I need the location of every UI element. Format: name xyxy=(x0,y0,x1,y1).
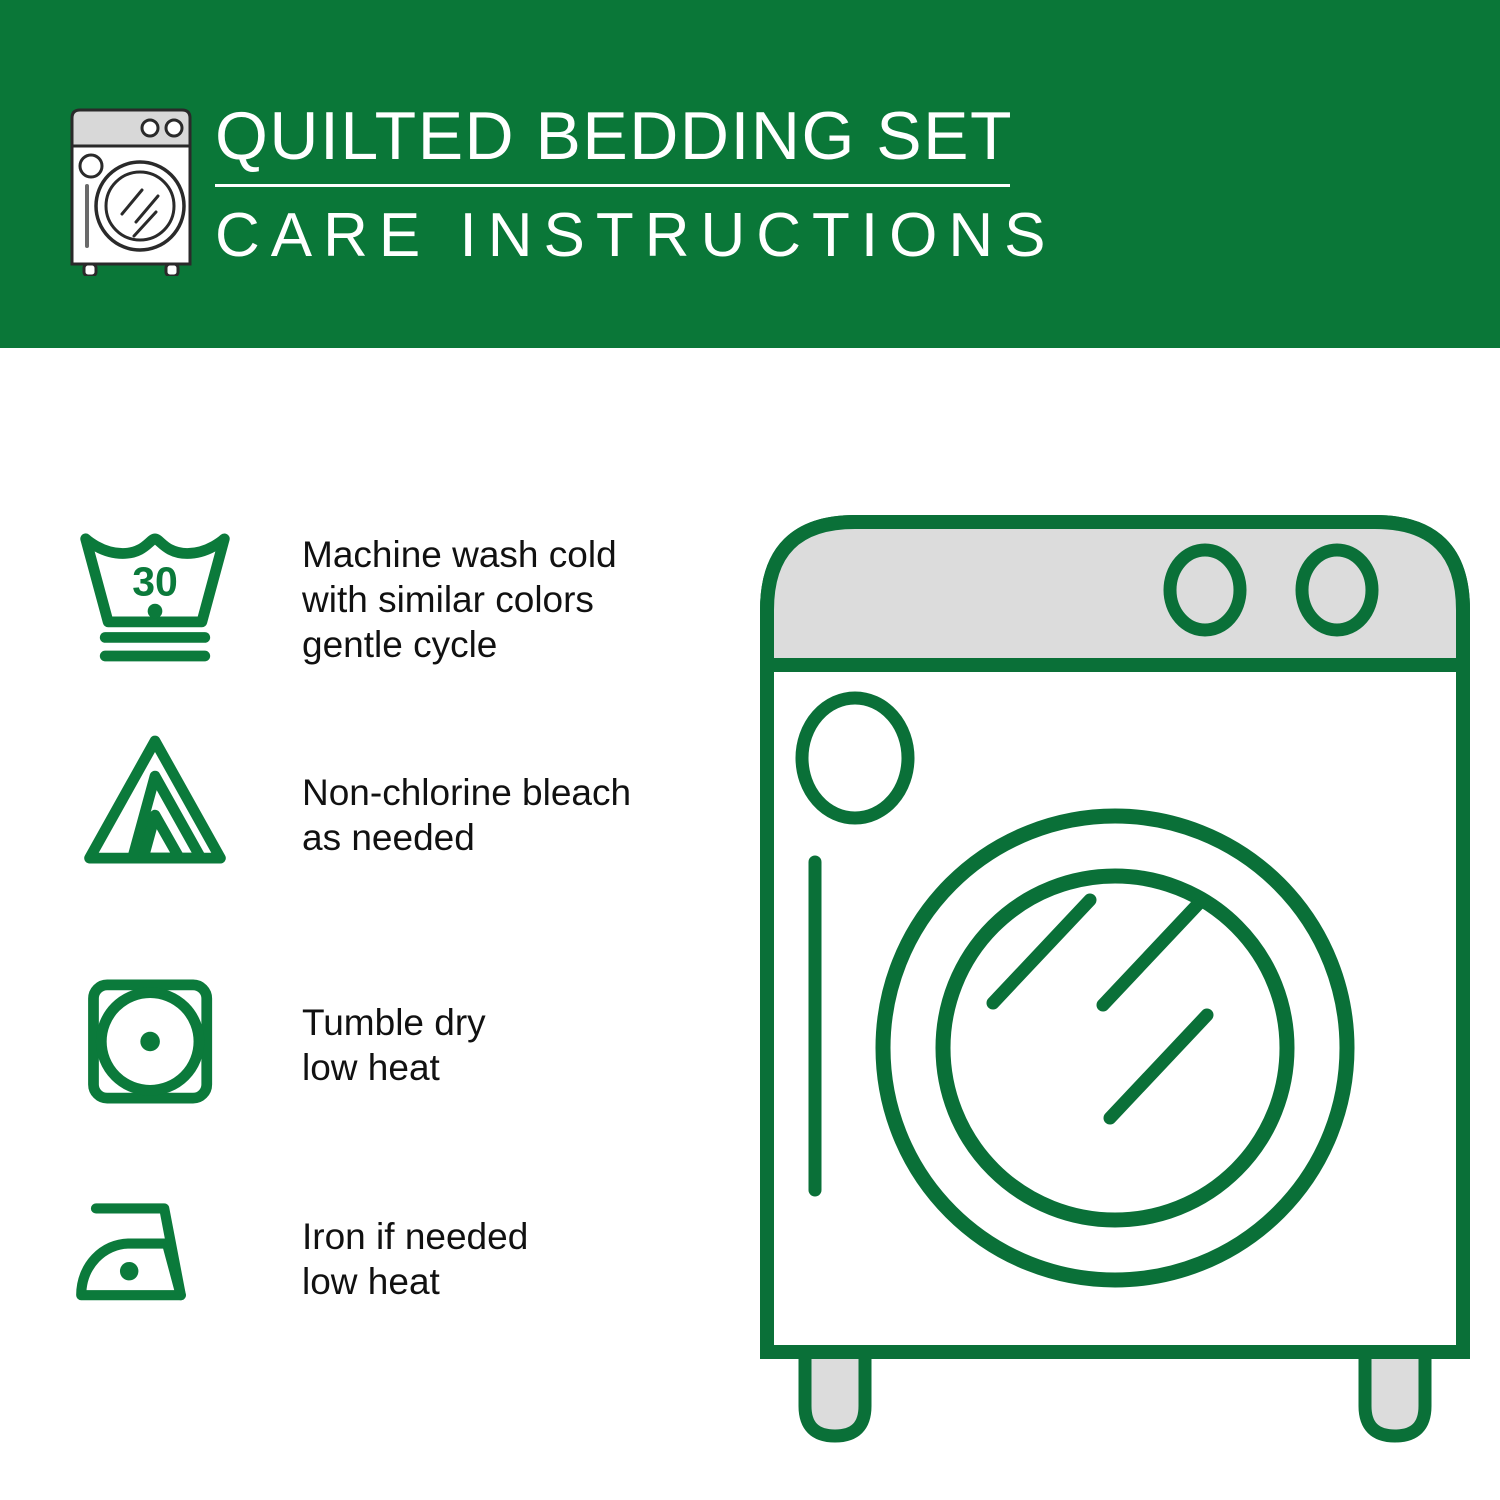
wash-tub-30-gentle-icon: 30 xyxy=(72,520,238,667)
care-instruction-text: Non-chlorine bleach as needed xyxy=(302,728,631,860)
wash-temperature-label: 30 xyxy=(132,558,178,604)
knob-left xyxy=(1170,550,1240,630)
care-instruction-text: Iron if needed low heat xyxy=(302,1192,528,1304)
page-title: QUILTED BEDDING SET xyxy=(215,98,1015,174)
title-divider xyxy=(215,184,1010,187)
header-title-block: QUILTED BEDDING SET CARE INSTRUCTIONS xyxy=(215,98,1015,271)
care-instruction-text: Tumble dry low heat xyxy=(302,968,486,1090)
care-instruction-text: Machine wash cold with similar colors ge… xyxy=(302,520,617,667)
washing-machine-icon xyxy=(62,104,212,276)
door-inner-ring xyxy=(943,876,1287,1220)
knob-right xyxy=(1302,550,1372,630)
detergent-dial xyxy=(802,698,908,818)
care-instruction-item: Tumble dry low heat xyxy=(72,968,486,1115)
leg-right xyxy=(1365,1352,1425,1436)
iron-low-heat-icon xyxy=(72,1192,238,1319)
front-load-washing-machine-illustration xyxy=(745,490,1485,1450)
care-instruction-item: 30 Machine wash cold with similar colors… xyxy=(72,520,617,667)
page-subtitle: CARE INSTRUCTIONS xyxy=(215,201,1015,271)
non-chlorine-bleach-triangle-icon xyxy=(72,728,238,875)
leg-left xyxy=(805,1352,865,1436)
header-banner: QUILTED BEDDING SET CARE INSTRUCTIONS xyxy=(0,0,1500,348)
care-instruction-item: Non-chlorine bleach as needed xyxy=(72,728,631,875)
care-instructions-page: QUILTED BEDDING SET CARE INSTRUCTIONS 30 xyxy=(0,0,1500,1500)
care-instruction-item: Iron if needed low heat xyxy=(72,1192,528,1319)
tumble-dry-low-icon xyxy=(72,968,238,1115)
